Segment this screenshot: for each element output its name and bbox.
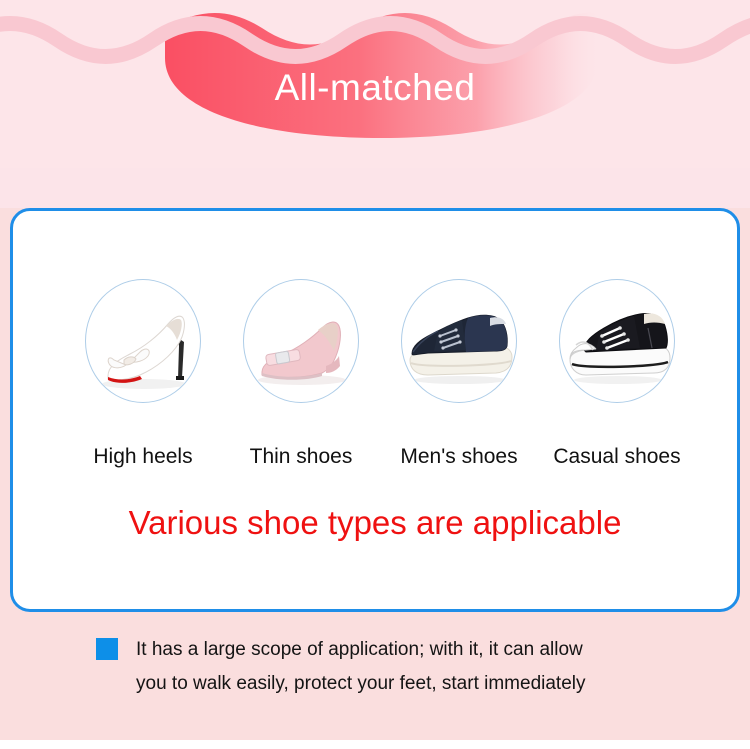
footer-note-line-2: you to walk easily, protect your feet, s… [136,667,696,701]
shoe-circle-frame [401,279,517,403]
pink-flat-shoe-icon [243,280,359,403]
shoe-circle-frame [85,279,201,403]
footer-note-line-1: It has a large scope of application; wit… [136,633,696,667]
header-banner: All-matched [0,0,750,168]
white-high-heel-pump-shoe-icon [85,280,201,403]
shoe-item-thin-shoes[interactable] [239,279,363,403]
shoe-item-high-heels[interactable] [81,279,205,403]
product-infographic: All-matched [0,0,750,749]
footer-note-text: It has a large scope of application; wit… [136,633,696,701]
shoe-label-row: High heels Thin shoes Men's shoes Casual… [13,443,737,473]
card-headline: Various shoe types are applicable [13,503,737,543]
shoe-types-card: High heels Thin shoes Men's shoes Casual… [10,208,740,612]
shoe-thumbnail-row [13,279,737,403]
shoe-label-thin-shoes: Thin shoes [221,443,381,471]
shoe-label-high-heels: High heels [63,443,223,471]
shoe-label-mens-shoes: Men's shoes [379,443,539,471]
header-spacer [0,168,750,208]
shoe-label-casual-shoes: Casual shoes [537,443,697,471]
blue-square-bullet-icon [96,638,118,660]
shoe-item-casual-shoes[interactable] [555,279,679,403]
shoe-item-mens-shoes[interactable] [397,279,521,403]
header-title: All-matched [0,66,750,110]
navy-leather-mens-shoe-icon [401,280,517,403]
bottom-white-strip [0,740,750,749]
shoe-circle-frame [559,279,675,403]
black-canvas-sneaker-icon [559,280,675,403]
shoe-circle-frame [243,279,359,403]
